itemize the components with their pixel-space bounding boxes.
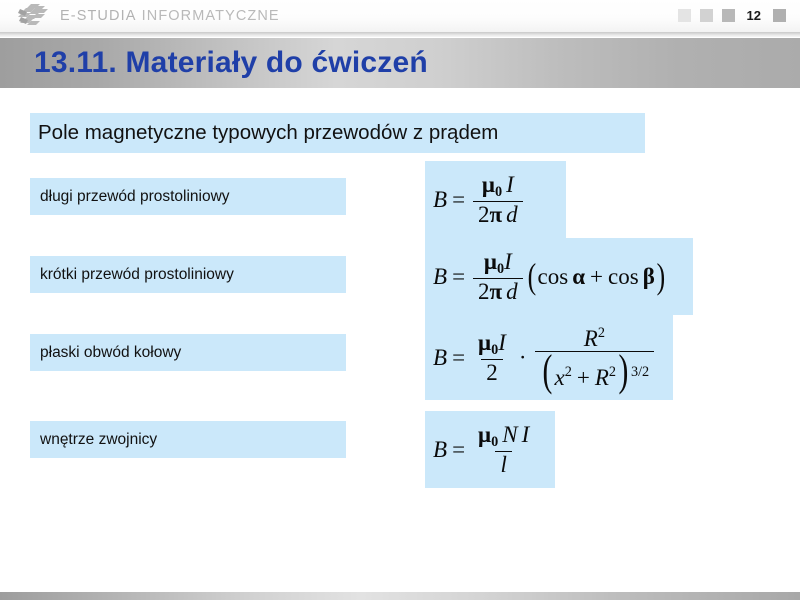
section-banner: Pole magnetyczne typowych przewodów z pr… bbox=[30, 113, 645, 153]
formula-expression: B = μ0I 2πd ( cos α + cos β ) bbox=[433, 250, 667, 302]
symbol-B: B bbox=[433, 438, 447, 461]
formula-panel-straight-short-wire: B = μ0I 2πd ( cos α + cos β ) bbox=[425, 238, 693, 315]
fraction: μ0NI l bbox=[473, 423, 534, 475]
section-banner-text: Pole magnetyczne typowych przewodów z pr… bbox=[38, 121, 498, 145]
fraction-numerator: μ0I bbox=[479, 250, 517, 277]
symbol-N: N bbox=[502, 422, 517, 447]
symbol-cos: cos bbox=[608, 265, 639, 288]
symbol-I: I bbox=[498, 330, 506, 355]
symbol-R: R bbox=[595, 365, 609, 390]
symbol-equals: = bbox=[452, 438, 465, 461]
symbol-pi: π bbox=[490, 202, 503, 227]
fraction: μ0I 2πd bbox=[473, 173, 523, 225]
formula-panel-straight-long-wire: B = μ0I 2πd bbox=[425, 161, 566, 238]
symbol-two: 2 bbox=[478, 202, 490, 227]
fraction: μ0I 2πd bbox=[473, 250, 523, 302]
symbol-B: B bbox=[433, 346, 447, 369]
footer-band bbox=[0, 592, 800, 600]
symbol-B: B bbox=[433, 188, 447, 211]
fraction-denominator: 2 bbox=[481, 359, 503, 384]
symbol-d: d bbox=[506, 202, 518, 227]
fraction-denominator: 2πd bbox=[473, 278, 523, 303]
fraction-denominator: 2πd bbox=[473, 201, 523, 226]
symbol-beta: β bbox=[643, 265, 655, 288]
formula-panel-solenoid-interior: B = μ0NI l bbox=[425, 411, 555, 488]
case-label-wnetrze-zwojnicy: wnętrze zwojnicy bbox=[30, 421, 346, 458]
symbol-exponent-two: 2 bbox=[609, 364, 616, 380]
formula-expression: B = μ0I 2πd bbox=[433, 173, 526, 225]
symbol-exponent-three-halves: 3/2 bbox=[631, 364, 649, 380]
fraction-numerator: μ0I bbox=[473, 331, 511, 358]
symbol-subscript-zero: 0 bbox=[491, 434, 498, 450]
fraction-numerator: R2 bbox=[579, 326, 610, 351]
symbol-cos: cos bbox=[538, 265, 569, 288]
paren-close: ) bbox=[619, 353, 629, 389]
slide-content: Pole magnetyczne typowych przewodów z pr… bbox=[0, 0, 800, 600]
case-label-text: krótki przewód prostoliniowy bbox=[40, 266, 234, 284]
symbol-mu: μ bbox=[482, 172, 495, 197]
case-label-dlugi-przewod: długi przewód prostoliniowy bbox=[30, 178, 346, 215]
symbol-dot: · bbox=[519, 346, 527, 369]
fraction-numerator: μ0NI bbox=[473, 423, 534, 450]
symbol-pi: π bbox=[490, 279, 503, 304]
case-label-krotki-przewod: krótki przewód prostoliniowy bbox=[30, 256, 346, 293]
symbol-mu: μ bbox=[478, 422, 491, 447]
formula-panel-circular-loop: B = μ0I 2 · R2 (x2+R2)3/2 bbox=[425, 315, 673, 400]
fraction: μ0I 2 bbox=[473, 331, 511, 383]
fraction-denominator: l bbox=[495, 451, 511, 476]
symbol-alpha: α bbox=[572, 265, 585, 288]
paren-open: ( bbox=[527, 261, 536, 291]
paren-open: ( bbox=[542, 353, 552, 389]
case-label-text: płaski obwód kołowy bbox=[40, 344, 181, 362]
symbol-l: l bbox=[500, 452, 506, 477]
symbol-plus: + bbox=[590, 265, 603, 288]
fraction-second: R2 (x2+R2)3/2 bbox=[535, 326, 655, 389]
symbol-I: I bbox=[506, 172, 514, 197]
symbol-exponent-two: 2 bbox=[565, 364, 572, 380]
symbol-I: I bbox=[504, 249, 512, 274]
symbol-x: x bbox=[555, 365, 565, 390]
symbol-mu: μ bbox=[478, 330, 491, 355]
case-label-text: wnętrze zwojnicy bbox=[40, 431, 157, 449]
symbol-d: d bbox=[506, 279, 518, 304]
symbol-equals: = bbox=[452, 346, 465, 369]
symbol-subscript-zero: 0 bbox=[495, 184, 502, 200]
fraction-numerator: μ0I bbox=[477, 173, 519, 200]
fraction-denominator: (x2+R2)3/2 bbox=[535, 351, 655, 389]
symbol-B: B bbox=[433, 265, 447, 288]
symbol-plus: + bbox=[577, 365, 590, 390]
symbol-two: 2 bbox=[478, 279, 490, 304]
symbol-I: I bbox=[522, 422, 530, 447]
formula-expression: B = μ0NI l bbox=[433, 423, 537, 475]
symbol-equals: = bbox=[452, 265, 465, 288]
symbol-two: 2 bbox=[486, 360, 498, 385]
paren-close: ) bbox=[656, 261, 665, 291]
case-label-text: długi przewód prostoliniowy bbox=[40, 188, 230, 206]
case-label-plaski-obwod: płaski obwód kołowy bbox=[30, 334, 346, 371]
symbol-R: R bbox=[584, 326, 598, 351]
symbol-exponent-two: 2 bbox=[598, 325, 605, 341]
symbol-equals: = bbox=[452, 188, 465, 211]
symbol-mu: μ bbox=[484, 249, 497, 274]
formula-expression: B = μ0I 2 · R2 (x2+R2)3/2 bbox=[433, 326, 657, 389]
